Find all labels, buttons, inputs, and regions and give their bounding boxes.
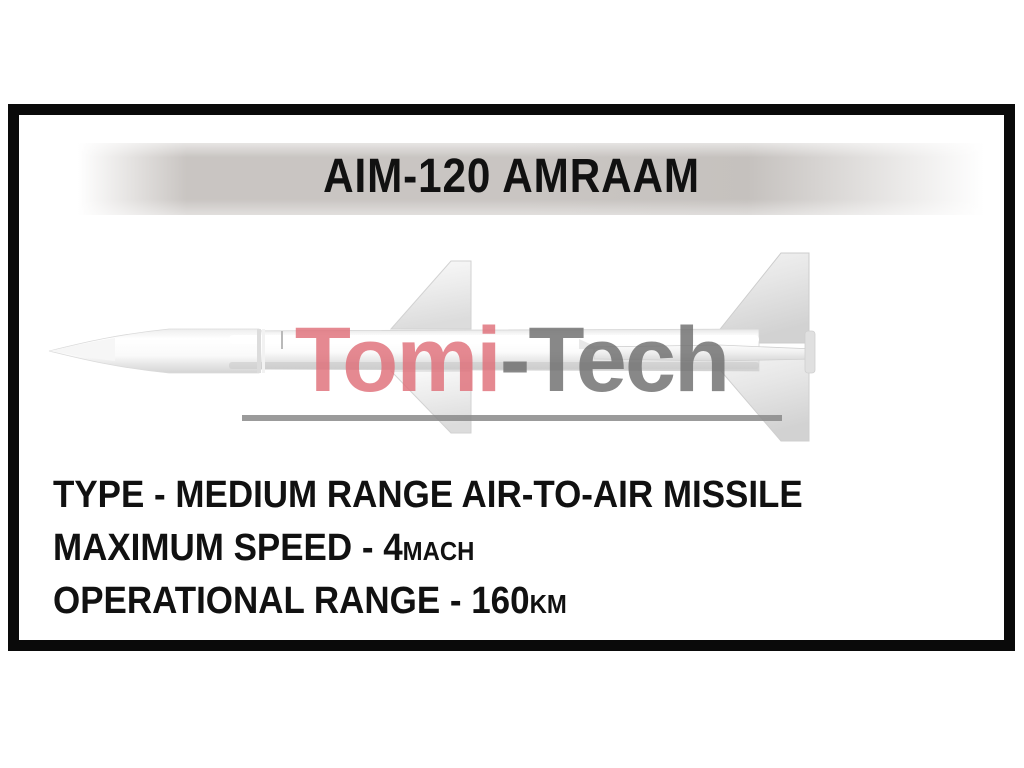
missile-illustration — [19, 225, 1004, 445]
spec-label-max-speed: MAXIMUM SPEED - — [53, 527, 383, 569]
mid-fin-lower — [391, 371, 471, 433]
body-highlight — [229, 335, 759, 344]
spec-line-type: TYPE - MEDIUM RANGE AIR-TO-AIR MISSILE — [53, 470, 803, 523]
spec-unit-max-speed: MACH — [403, 536, 475, 566]
section-joint-front — [257, 329, 261, 373]
mid-fin-upper — [391, 261, 471, 329]
spec-unit-operational-range: KM — [530, 589, 567, 619]
rocket-nozzle — [805, 331, 815, 373]
spec-value-max-speed: 4 — [383, 527, 402, 569]
missile-svg — [19, 225, 1004, 445]
panel-line-a — [281, 331, 283, 349]
spec-label-operational-range: OPERATIONAL RANGE - — [53, 580, 471, 622]
spec-line-max-speed: MAXIMUM SPEED - 4MACH — [53, 523, 803, 576]
rear-strake — [594, 345, 814, 361]
spec-line-operational-range: OPERATIONAL RANGE - 160KM — [53, 576, 803, 629]
spec-list: TYPE - MEDIUM RANGE AIR-TO-AIR MISSILE M… — [53, 470, 868, 629]
poster-content-area: AIM-120 AMRAAM — [19, 115, 1004, 640]
poster-root: AIM-120 AMRAAM — [0, 0, 1024, 768]
body-shadow — [229, 362, 759, 369]
spec-value-operational-range: 160 — [471, 580, 529, 622]
section-joint-front-light — [262, 329, 265, 373]
spec-label-type: TYPE - MEDIUM RANGE AIR-TO-AIR MISSILE — [53, 474, 803, 516]
page-title: AIM-120 AMRAAM — [78, 148, 945, 206]
poster-frame: AIM-120 AMRAAM — [8, 104, 1015, 651]
